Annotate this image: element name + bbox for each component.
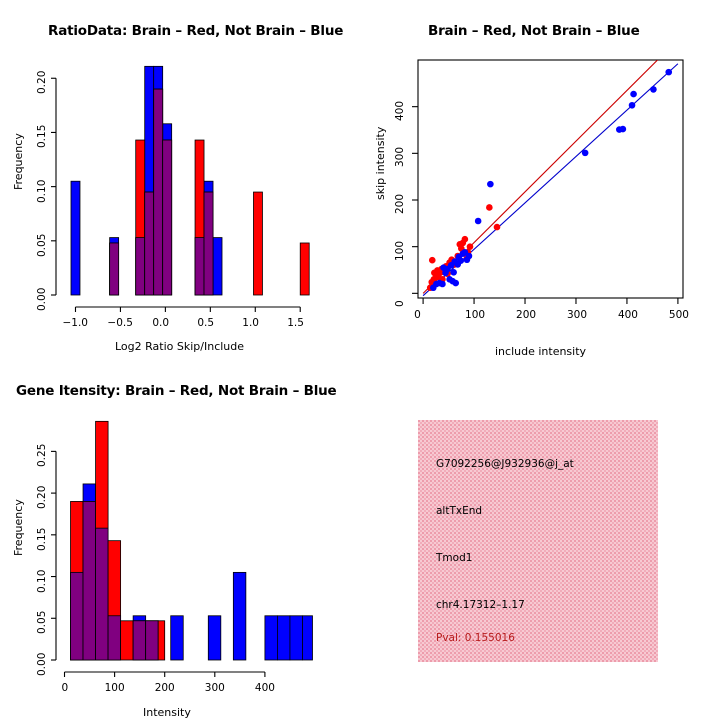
gene-ytick-2: 0.10 xyxy=(36,569,48,592)
event-type-label: altTxEnd xyxy=(436,505,482,517)
ratio-xtick-2: 0.0 xyxy=(152,317,169,329)
panel-gene-histogram: Gene Itensity: Brain – Red, Not Brain – … xyxy=(0,360,360,720)
scatter-point-blue-15 xyxy=(458,257,465,264)
ratio-ytick-3: 0.15 xyxy=(36,125,48,148)
gene-bar-overlap-1 xyxy=(83,501,96,660)
panel-ratio-histogram: RatioData: Brain – Red, Not Brain – Blue… xyxy=(0,0,360,360)
ratio-bar-overlap-3 xyxy=(154,89,163,295)
scatter-point-red-27 xyxy=(494,224,501,231)
gene-histogram-plot xyxy=(0,360,360,720)
ratio-ytick-4: 0.20 xyxy=(36,71,48,94)
pval-label: Pval: 0.155016 xyxy=(436,632,515,644)
scatter-point-blue-12 xyxy=(452,280,459,287)
scatter-point-blue-27 xyxy=(650,86,657,93)
ratio-bar-overlap-5 xyxy=(195,238,204,295)
scatter-point-blue-24 xyxy=(620,126,627,133)
gene-ytick-3: 0.15 xyxy=(36,527,48,550)
gene-xtick-4: 400 xyxy=(255,682,275,694)
gene-bar-overlap-5 xyxy=(133,621,146,660)
scatter-ytick-2: 200 xyxy=(394,194,406,214)
scatter-ytick-3: 300 xyxy=(394,147,406,167)
gene-xtick-1: 100 xyxy=(105,682,125,694)
scatter-point-blue-20 xyxy=(475,218,482,225)
gene-bar-overlap-2 xyxy=(96,528,109,660)
scatter-point-red-26 xyxy=(486,204,493,211)
ratio-bar-red-8 xyxy=(300,243,309,295)
scatter-point-blue-3 xyxy=(439,281,446,288)
ratio-xtick-0: −1.0 xyxy=(62,317,88,329)
probe-info-panel: G7092256@J932936@j_at altTxEnd Tmod1 chr… xyxy=(418,420,658,662)
scatter-xtick-2: 200 xyxy=(516,309,536,321)
gene-bar-blue-11 xyxy=(290,616,303,660)
ratio-ytick-2: 0.10 xyxy=(36,179,48,202)
gene-xtick-2: 200 xyxy=(155,682,175,694)
scatter-point-blue-26 xyxy=(630,91,637,98)
gene-ytick-1: 0.05 xyxy=(36,611,48,634)
scatter-ytick-0: 0 xyxy=(394,301,406,308)
ratio-bar-overlap-4 xyxy=(163,140,172,295)
scatter-ytick-1: 100 xyxy=(394,241,406,261)
gene-ytick-4: 0.20 xyxy=(36,486,48,509)
scatter-point-blue-28 xyxy=(665,69,672,76)
gene-xtick-0: 0 xyxy=(62,682,69,694)
gene-bar-overlap-3 xyxy=(108,616,121,660)
scatter-xtick-4: 400 xyxy=(618,309,638,321)
ratio-bar-blue-8 xyxy=(213,238,222,295)
scatter-point-red-25 xyxy=(467,243,474,250)
scatter-xtick-1: 100 xyxy=(465,309,485,321)
ratio-bar-blue-0 xyxy=(71,181,80,295)
ratio-xtick-3: 0.5 xyxy=(197,317,214,329)
gene-bar-blue-8 xyxy=(233,572,246,660)
scatter-point-blue-21 xyxy=(487,181,494,188)
gene-ytick-5: 0.25 xyxy=(36,444,48,467)
gene-bar-blue-10 xyxy=(277,616,290,660)
scatter-xtick-0: 0 xyxy=(414,309,421,321)
gene-bar-blue-7 xyxy=(208,616,221,660)
scatter-point-blue-19 xyxy=(466,253,473,260)
ratio-ytick-0: 0.00 xyxy=(36,288,48,311)
gene-bar-blue-12 xyxy=(302,616,312,660)
gene-bar-blue-6 xyxy=(171,616,184,660)
ratio-bar-overlap-6 xyxy=(204,192,213,295)
ratio-bar-overlap-1 xyxy=(136,238,145,295)
scatter-xtick-3: 300 xyxy=(567,309,587,321)
scatter-point-blue-25 xyxy=(629,102,636,109)
scatter-point-blue-22 xyxy=(582,150,589,157)
scatter-ytick-4: 400 xyxy=(394,101,406,121)
ratio-bar-red-7 xyxy=(253,192,262,295)
ratio-histogram-plot xyxy=(0,0,360,360)
gene-xtick-3: 300 xyxy=(205,682,225,694)
ratio-bar-overlap-2 xyxy=(145,192,154,295)
ratio-bar-overlap-0 xyxy=(110,243,119,295)
panel-intensity-scatter: Brain – Red, Not Brain – Blue skip inten… xyxy=(360,0,720,360)
gene-ytick-0: 0.00 xyxy=(36,653,48,676)
gene-bar-overlap-6 xyxy=(146,621,159,660)
scatter-point-red-22 xyxy=(462,236,469,243)
gene-bar-overlap-0 xyxy=(71,572,84,660)
ratio-xtick-5: 1.5 xyxy=(287,317,304,329)
scatter-plot xyxy=(360,0,720,360)
gene-symbol-label: Tmod1 xyxy=(436,552,472,564)
figure-canvas: RatioData: Brain – Red, Not Brain – Blue… xyxy=(0,0,720,720)
scatter-point-red-2 xyxy=(429,257,436,264)
gene-bar-red-4 xyxy=(121,621,134,660)
scatter-point-blue-10 xyxy=(450,269,457,276)
ratio-ytick-1: 0.05 xyxy=(36,233,48,256)
locus-label: chr4.17312–1.17 xyxy=(436,599,525,611)
gene-bar-blue-9 xyxy=(265,616,278,660)
ratio-xtick-1: −0.5 xyxy=(107,317,133,329)
ratio-xtick-4: 1.0 xyxy=(242,317,259,329)
probe-id-label: G7092256@J932936@j_at xyxy=(436,458,574,470)
gene-bar-red-7 xyxy=(158,621,165,660)
scatter-xtick-5: 500 xyxy=(669,309,689,321)
